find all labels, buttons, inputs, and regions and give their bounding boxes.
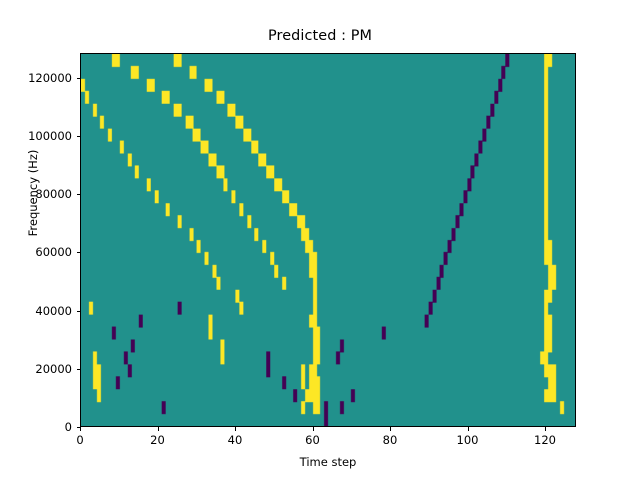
y-tick-label: 40000	[8, 304, 72, 318]
x-tick-label: 20	[128, 433, 188, 447]
x-tick-label: 60	[283, 433, 343, 447]
y-tick	[77, 369, 81, 370]
y-tick-label: 80000	[8, 187, 72, 201]
x-axis-label: Time step	[80, 455, 576, 469]
matplotlib-figure: Predicted : PM 0204060801001200200004000…	[0, 0, 640, 480]
heatmap-mesh	[81, 54, 575, 426]
y-tick	[77, 427, 81, 428]
x-tick	[313, 427, 314, 431]
chart-title: Predicted : PM	[0, 28, 640, 44]
y-tick-label: 0	[8, 420, 72, 434]
y-tick-label: 100000	[8, 129, 72, 143]
y-tick-label: 60000	[8, 245, 72, 259]
y-tick	[77, 78, 81, 79]
x-tick	[545, 427, 546, 431]
x-tick	[468, 427, 469, 431]
x-tick-label: 120	[515, 433, 575, 447]
y-tick-label: 120000	[8, 71, 72, 85]
y-tick	[77, 252, 81, 253]
x-tick	[390, 427, 391, 431]
y-tick	[77, 136, 81, 137]
y-tick	[77, 311, 81, 312]
x-tick-label: 40	[205, 433, 265, 447]
x-tick	[235, 427, 236, 431]
y-tick	[77, 194, 81, 195]
heatmap-axes	[80, 53, 576, 427]
y-tick-label: 20000	[8, 362, 72, 376]
x-tick-label: 80	[360, 433, 420, 447]
x-tick-label: 0	[50, 433, 110, 447]
x-tick	[158, 427, 159, 431]
x-tick	[80, 427, 81, 431]
x-tick-label: 100	[438, 433, 498, 447]
y-axis-label: Frequency (Hz)	[26, 103, 40, 283]
